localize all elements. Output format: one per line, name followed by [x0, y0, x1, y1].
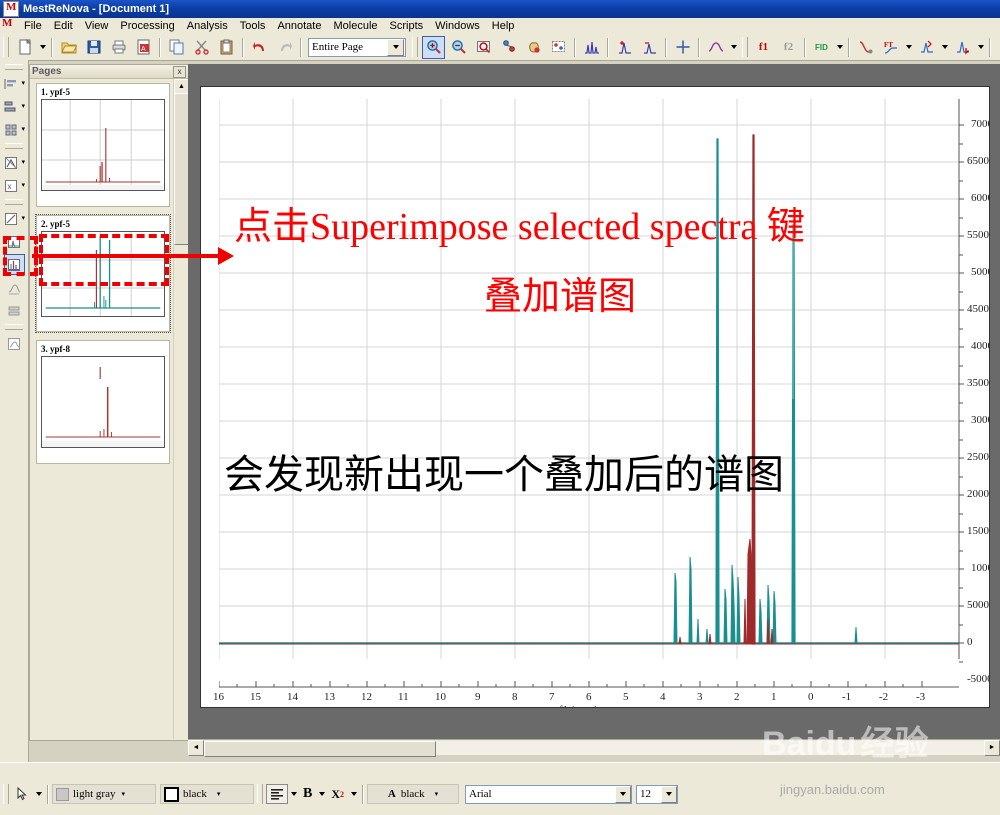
- fill-color-swatch: [56, 788, 69, 801]
- text-color-dropdown-icon[interactable]: ▾: [435, 790, 439, 798]
- arrange-cascade-tool-button[interactable]: [4, 277, 25, 298]
- font-family-dropdown-icon[interactable]: [615, 786, 631, 803]
- align-button[interactable]: [266, 784, 288, 804]
- hscroll-track[interactable]: [204, 741, 984, 755]
- font-size-value: 12: [637, 788, 661, 800]
- annotation-black-line: 会发现新出现一个叠加后的谱图: [224, 455, 784, 495]
- menu-edit[interactable]: Edit: [48, 19, 79, 33]
- format-toolbar-grip[interactable]: [257, 784, 263, 804]
- document-page[interactable]: 70000 65000 60000 55000 50000 45000 4000…: [200, 86, 990, 708]
- y-tick-label: 30000: [971, 414, 990, 426]
- reference-tms-button[interactable]: TMS: [995, 36, 1000, 59]
- y-axis-ticks: [959, 125, 964, 662]
- x-tick-label: 16: [213, 691, 224, 703]
- callout-arrow-head: [218, 247, 234, 265]
- format-toolbar: light gray ▾ black ▾ B X2 A black ▾ Aria…: [0, 762, 1000, 815]
- pages-thumbnail-list: 1. ypf-5: [31, 79, 173, 739]
- fill-color-button[interactable]: light gray ▾: [52, 784, 156, 804]
- text-color-glyph-icon: A: [388, 788, 396, 800]
- text-color-label: black: [401, 788, 425, 800]
- menu-view[interactable]: View: [79, 19, 115, 33]
- toolbar-separator: [804, 38, 806, 57]
- spectra-properties-tool-button[interactable]: [4, 333, 25, 354]
- select-region-button[interactable]: [547, 36, 570, 59]
- x-tick-label: 4: [660, 691, 666, 703]
- crosshair-button[interactable]: [671, 36, 694, 59]
- toolbar-separator: [242, 38, 244, 57]
- save-button[interactable]: [82, 36, 105, 59]
- x-tick-label: 15: [250, 691, 261, 703]
- undo-button[interactable]: [248, 36, 271, 59]
- menu-molecule[interactable]: Molecule: [327, 19, 383, 33]
- main-toolbar: A Entire Page: [0, 34, 1000, 61]
- open-button[interactable]: [57, 36, 80, 59]
- x-axis-label: f1 (ppm): [559, 704, 598, 708]
- pointer-dropdown-icon[interactable]: [33, 784, 44, 805]
- scroll-right-icon[interactable]: ►: [984, 740, 1000, 756]
- arrow-cursor-icon: [16, 787, 29, 801]
- fill-color-label: light gray: [73, 788, 115, 800]
- phase-correction-button[interactable]: [915, 36, 938, 59]
- menu-help[interactable]: Help: [486, 19, 521, 33]
- menu-file[interactable]: File: [18, 19, 48, 33]
- thumbnail-spectrum-preview: [41, 356, 165, 448]
- thumbnail-highlight-box: [39, 234, 169, 286]
- align-left-tool-button[interactable]: [1, 73, 22, 94]
- format-separator: [47, 785, 49, 804]
- copy-button[interactable]: [165, 36, 188, 59]
- page-thumbnail-label: 1. ypf-5: [41, 87, 165, 97]
- menu-processing[interactable]: Processing: [114, 19, 180, 33]
- bold-dropdown-icon[interactable]: [316, 784, 327, 805]
- toolbar-separator: [607, 38, 609, 57]
- y-tick-label: 15000: [967, 525, 990, 537]
- app-icon: [3, 1, 19, 17]
- delete-page-dropdown-icon[interactable]: ▾: [22, 176, 28, 195]
- horizontal-scrollbar[interactable]: ◄ ►: [188, 739, 1000, 755]
- toolbar-separator: [989, 38, 991, 57]
- menu-analysis[interactable]: Analysis: [181, 19, 234, 33]
- line-color-swatch: [164, 787, 179, 802]
- cut-spectrum-dropdown-icon[interactable]: ▾: [22, 153, 28, 172]
- distribute-dropdown-icon[interactable]: ▾: [22, 97, 28, 116]
- menu-tools[interactable]: Tools: [234, 19, 272, 33]
- menu-bar: File Edit View Processing Analysis Tools…: [0, 18, 1000, 35]
- x-tick-label: 5: [623, 691, 629, 703]
- grid-vertical: [219, 99, 959, 659]
- vtoolbar-grip[interactable]: [5, 324, 23, 330]
- x-tick-label: -3: [916, 691, 925, 703]
- y-tick-label: 70000: [971, 118, 990, 130]
- subscript-button[interactable]: X2: [327, 784, 348, 804]
- font-family-value: Arial: [466, 788, 615, 800]
- zoom-in-tool-button[interactable]: [422, 36, 445, 59]
- x-tick-label: 11: [398, 691, 409, 703]
- export-pdf-button[interactable]: A: [132, 36, 155, 59]
- distribute-tool-button[interactable]: [1, 96, 22, 117]
- auto-phase-button[interactable]: [951, 36, 974, 59]
- document-area: 70000 65000 60000 55000 50000 45000 4000…: [188, 64, 1000, 739]
- line-color-label: black: [183, 788, 207, 800]
- fit-to-screen-button[interactable]: [472, 36, 495, 59]
- menu-scripts[interactable]: Scripts: [384, 19, 430, 33]
- x-tick-label: 9: [475, 691, 481, 703]
- pages-panel-title: Pages: [32, 66, 173, 77]
- subscript-label: X: [331, 787, 340, 802]
- document-icon: [2, 20, 14, 32]
- subscript-index: 2: [340, 790, 344, 799]
- y-tick-label: 25000: [967, 451, 990, 463]
- x-tick-label: -1: [842, 691, 851, 703]
- mini-spectrum-3: [42, 357, 164, 447]
- line-color-dropdown-icon[interactable]: ▾: [217, 790, 221, 798]
- x-tick-label: 10: [435, 691, 446, 703]
- edit-spectrum-tool-button[interactable]: [1, 208, 22, 229]
- grid-dropdown-icon[interactable]: ▾: [22, 120, 28, 139]
- x-tick-label: 1: [771, 691, 777, 703]
- phase-dropdown-icon[interactable]: [939, 37, 950, 58]
- subscript-dropdown-icon[interactable]: [348, 784, 359, 805]
- page-thumbnail-label: 3. ypf-8: [41, 344, 165, 354]
- hand-tool-button[interactable]: [522, 36, 545, 59]
- format-separator: [362, 785, 364, 804]
- page-thumbnail-label: 2. ypf-5: [41, 219, 165, 229]
- cut-spectrum-tool-button[interactable]: [1, 152, 22, 173]
- print-button[interactable]: [107, 36, 130, 59]
- y-tick-label: 45000: [967, 303, 990, 315]
- f1-axis-button[interactable]: f1: [752, 36, 775, 59]
- zoom-level-value: Entire Page: [309, 41, 387, 53]
- integrate-button[interactable]: [613, 36, 636, 59]
- svg-text:A: A: [141, 46, 146, 53]
- font-size-combo[interactable]: 12: [636, 785, 678, 804]
- paste-button[interactable]: [215, 36, 238, 59]
- line-color-button[interactable]: black ▾: [160, 784, 254, 804]
- ft-dropdown-icon[interactable]: [903, 37, 914, 58]
- fid-dropdown-icon[interactable]: [834, 37, 845, 58]
- x-tick-label: 14: [287, 691, 298, 703]
- pan-tool-button[interactable]: [497, 36, 520, 59]
- menu-windows[interactable]: Windows: [429, 19, 486, 33]
- peak-picking-button[interactable]: [580, 36, 603, 59]
- menu-annotate[interactable]: Annotate: [271, 19, 327, 33]
- x-tick-label: -2: [879, 691, 888, 703]
- scroll-up-icon[interactable]: ▲: [174, 79, 189, 94]
- x-tick-label: 2: [734, 691, 740, 703]
- annotation-red-line2: 叠加谱图: [484, 278, 636, 316]
- close-icon[interactable]: x: [173, 66, 186, 78]
- nmr-spectrum-svg: [219, 99, 964, 699]
- toolbar-separator: [848, 38, 850, 57]
- x-tick-label: 3: [697, 691, 703, 703]
- mestrenova-window: MestReNova - [Document 1] File Edit View…: [0, 0, 1000, 804]
- y-tick-label: 0: [967, 636, 973, 648]
- vtoolbar-grip[interactable]: [5, 143, 23, 149]
- y-tick-label: 10000: [971, 562, 990, 574]
- f2-axis-button[interactable]: f2: [777, 36, 800, 59]
- vtoolbar-grip[interactable]: [5, 64, 23, 70]
- align-dropdown-icon[interactable]: [288, 784, 299, 805]
- new-document-dropdown-icon[interactable]: [37, 37, 48, 58]
- scrollbar-thumb[interactable]: [174, 93, 189, 245]
- bold-label: B: [303, 786, 312, 802]
- fid-view-button[interactable]: FID: [810, 36, 833, 59]
- y-tick-label: 65000: [967, 155, 990, 167]
- y-tick-label: 35000: [967, 377, 990, 389]
- fourier-transform-button[interactable]: FT: [879, 36, 902, 59]
- align-dropdown-icon[interactable]: ▾: [22, 74, 28, 93]
- vtoolbar-grip[interactable]: [5, 199, 23, 205]
- redo-button[interactable]: [273, 36, 296, 59]
- y-tick-label: 5000: [967, 599, 989, 611]
- x-tick-label: 8: [512, 691, 518, 703]
- toolbar-separator: [159, 38, 161, 57]
- title-bar: MestReNova - [Document 1]: [0, 0, 1000, 18]
- toolbar-grip[interactable]: [412, 37, 418, 57]
- delete-page-tool-button[interactable]: x: [1, 175, 22, 196]
- x-tick-label: 12: [361, 691, 372, 703]
- font-family-combo[interactable]: Arial: [465, 785, 632, 804]
- pages-panel-scrollbar[interactable]: ▲: [173, 79, 187, 739]
- arrange-tile-tool-button[interactable]: [4, 300, 25, 321]
- toolbar-grip[interactable]: [742, 37, 748, 57]
- x-tick-label: 0: [808, 691, 814, 703]
- page-thumbnail-3[interactable]: 3. ypf-8: [36, 340, 170, 464]
- zoom-level-dropdown-icon[interactable]: [387, 39, 404, 56]
- bold-button[interactable]: B: [299, 784, 316, 804]
- edit-spectrum-dropdown-icon[interactable]: ▾: [22, 209, 28, 228]
- toolbar-separator: [574, 38, 576, 57]
- pointer-tool-button[interactable]: [12, 784, 33, 804]
- y-tick-label: -5000: [967, 673, 990, 685]
- toolbar-separator: [51, 38, 53, 57]
- toolbar-separator: [698, 38, 700, 57]
- y-tick-label: 20000: [967, 488, 990, 500]
- text-color-button[interactable]: A black ▾: [367, 784, 459, 804]
- multiplet-analysis-button[interactable]: [638, 36, 661, 59]
- annotation-red-line1: 点击Superimpose selected spectra 键: [234, 208, 805, 246]
- apodization-button[interactable]: [854, 36, 877, 59]
- y-tick-label: 40000: [971, 340, 990, 352]
- toolbar-separator: [300, 38, 302, 57]
- toolbar-separator: [665, 38, 667, 57]
- pages-panel-body: 1. ypf-5: [31, 79, 187, 739]
- pages-panel: Pages x 1. ypf-5: [29, 64, 189, 741]
- nmr-spectrum-plot[interactable]: 70000 65000 60000 55000 50000 45000 4000…: [219, 99, 964, 699]
- scroll-left-icon[interactable]: ◄: [188, 740, 204, 756]
- page-thumbnail-1[interactable]: 1. ypf-5: [36, 83, 170, 207]
- auto-phase-dropdown-icon[interactable]: [975, 37, 986, 58]
- x-tick-label: 13: [324, 691, 335, 703]
- y-tick-label: 60000: [971, 192, 990, 204]
- align-left-icon: [270, 787, 284, 801]
- fill-color-dropdown-icon[interactable]: ▾: [121, 790, 125, 798]
- y-tick-label: 50000: [971, 266, 990, 278]
- svg-text:x: x: [8, 182, 12, 191]
- format-toolbar-grip[interactable]: [3, 784, 9, 804]
- x-tick-label: 7: [549, 691, 555, 703]
- zoom-out-tool-button[interactable]: [447, 36, 470, 59]
- window-title: MestReNova - [Document 1]: [23, 3, 169, 15]
- font-size-dropdown-icon[interactable]: [661, 786, 677, 803]
- grid-arrange-tool-button[interactable]: [1, 119, 22, 140]
- cut-button[interactable]: [190, 36, 213, 59]
- baseline-correction-button[interactable]: [704, 36, 727, 59]
- y-tick-label: 55000: [967, 229, 990, 241]
- pages-panel-titlebar: Pages x: [30, 65, 188, 79]
- thumbnail-spectrum-preview: [41, 99, 165, 191]
- toolbar-grip[interactable]: [3, 37, 9, 57]
- new-document-button[interactable]: [13, 36, 36, 59]
- zoom-level-combo[interactable]: Entire Page: [308, 38, 406, 57]
- mini-spectrum-1: [42, 100, 164, 190]
- hscroll-thumb[interactable]: [204, 741, 436, 757]
- x-tick-label: 6: [586, 691, 592, 703]
- x-axis-ticks: [219, 681, 922, 687]
- left-vertical-toolbar: ▾ ▾ ▾ ▾ x▾ ▾: [0, 60, 29, 762]
- baseline-dropdown-icon[interactable]: [728, 37, 739, 58]
